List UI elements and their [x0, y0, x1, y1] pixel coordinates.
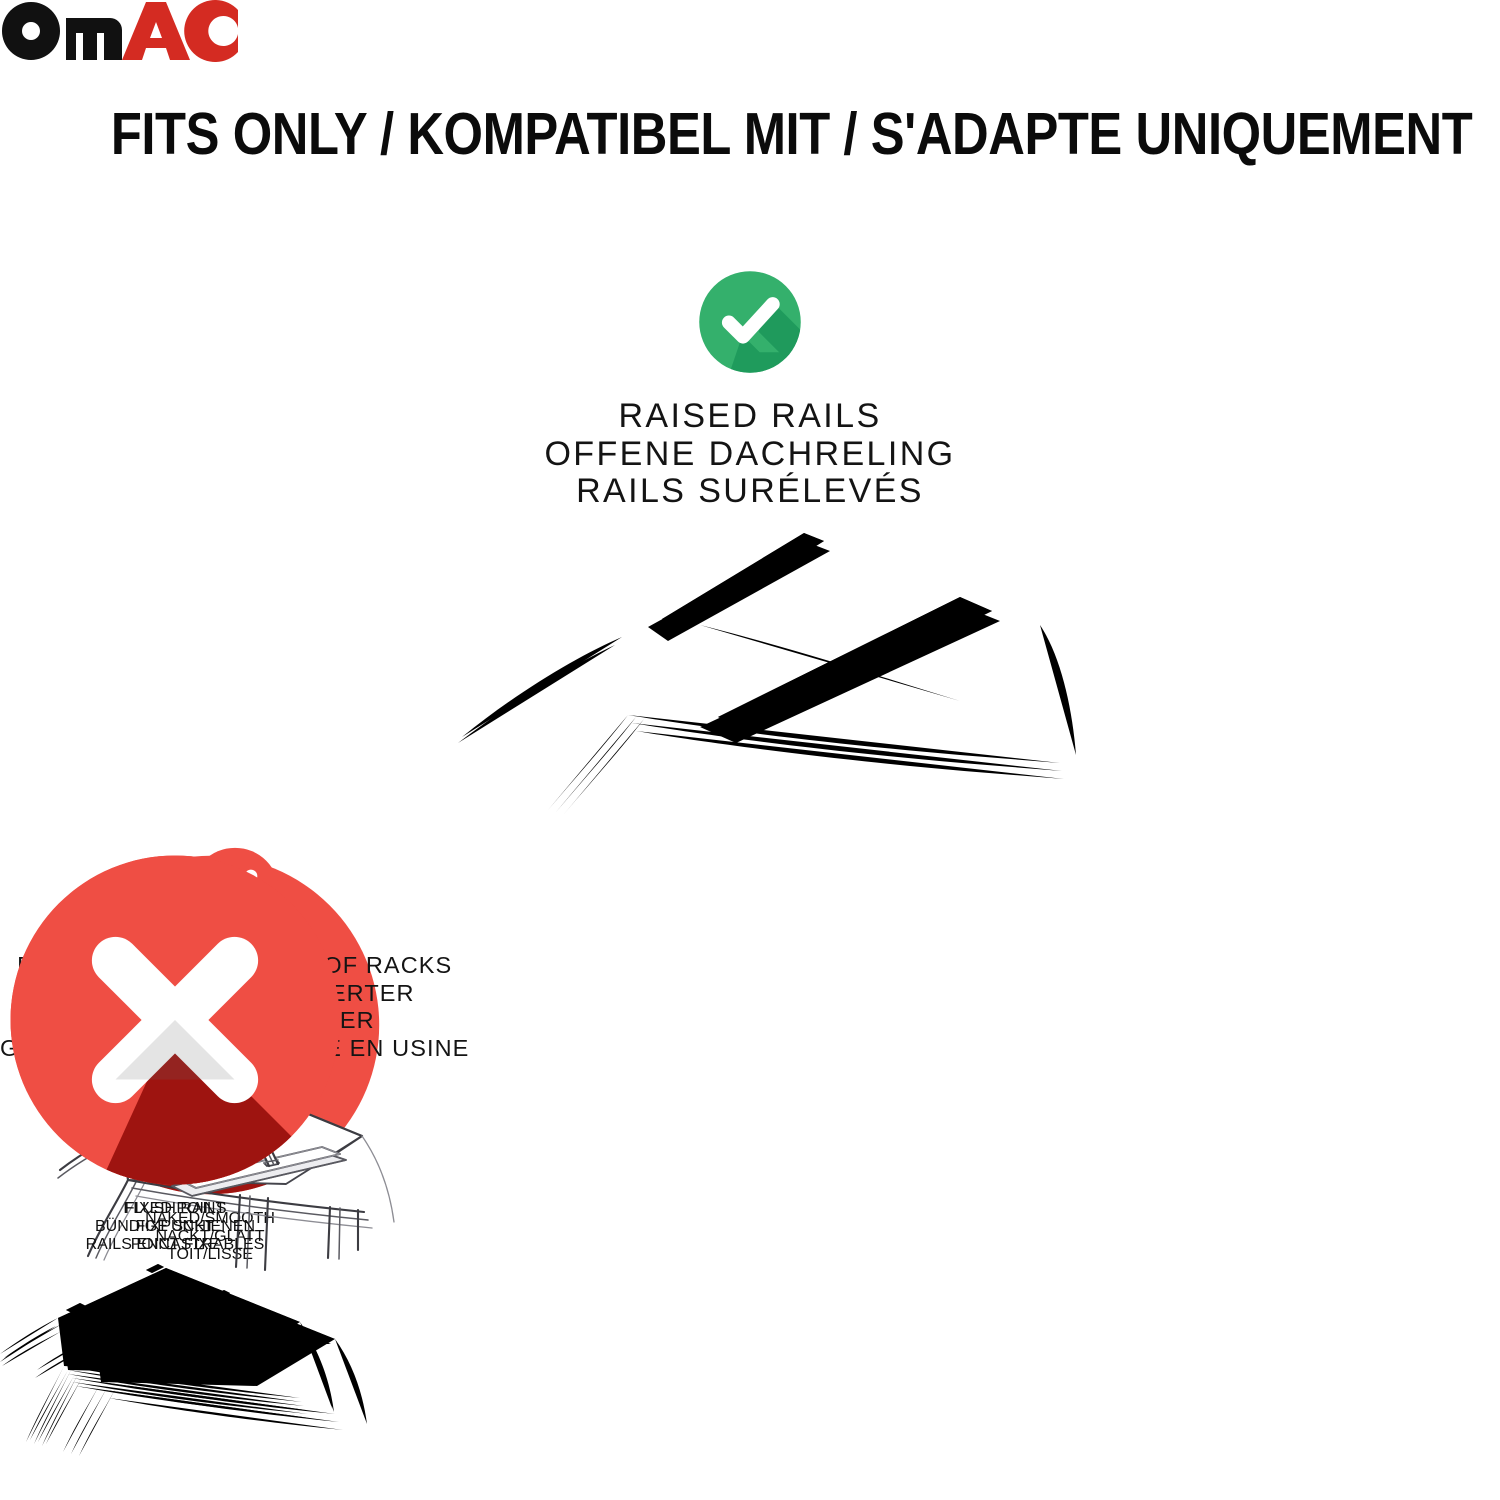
- item-label-line: FIXPUNKT: [0, 1218, 350, 1236]
- item-label-line: POINT FIXE: [0, 1236, 350, 1254]
- logo-letter-C: [184, 0, 238, 62]
- logo-letter-o: [2, 2, 60, 60]
- incompatible-section: NAKED/SMOOTH NACKT/GLATT TOIT/LISSE: [0, 845, 1500, 1325]
- check-circle-icon: [696, 268, 804, 376]
- omac-logo-svg: [0, 0, 240, 62]
- compatible-label: RAISED RAILS OFFENE DACHRELING RAILS SUR…: [0, 398, 1500, 511]
- compatible-label-line: RAISED RAILS: [0, 398, 1500, 436]
- car-roof-fixed-point-illustration: [0, 1254, 350, 1489]
- page-title: FITS ONLY / KOMPATIBEL MIT / S'ADAPTE UN…: [0, 103, 1500, 165]
- car-roof-raised-rails-svg: [400, 505, 1100, 845]
- item-label-line: FIXED POINT: [0, 1200, 350, 1218]
- compatible-section: RAISED RAILS OFFENE DACHRELING RAILS SUR…: [0, 268, 1500, 511]
- incompatible-item-fixed-point: FIXED POINT FIXPUNKT POINT FIXE: [0, 845, 350, 1489]
- omac-logo: [0, 0, 1500, 67]
- car-roof-raised-rails-illustration: [400, 505, 1100, 845]
- page-title-text: FITS ONLY / KOMPATIBEL MIT / S'ADAPTE UN…: [111, 103, 1472, 165]
- logo-letter-A: [122, 2, 190, 60]
- item-label: FIXED POINT FIXPUNKT POINT FIXE: [0, 1200, 350, 1254]
- compatible-label-line: OFFENE DACHRELING: [0, 436, 1500, 474]
- logo-letter-m: [66, 18, 122, 60]
- car-roof-fixed-point-svg: [0, 1254, 350, 1484]
- x-circle-icon: [0, 845, 350, 1195]
